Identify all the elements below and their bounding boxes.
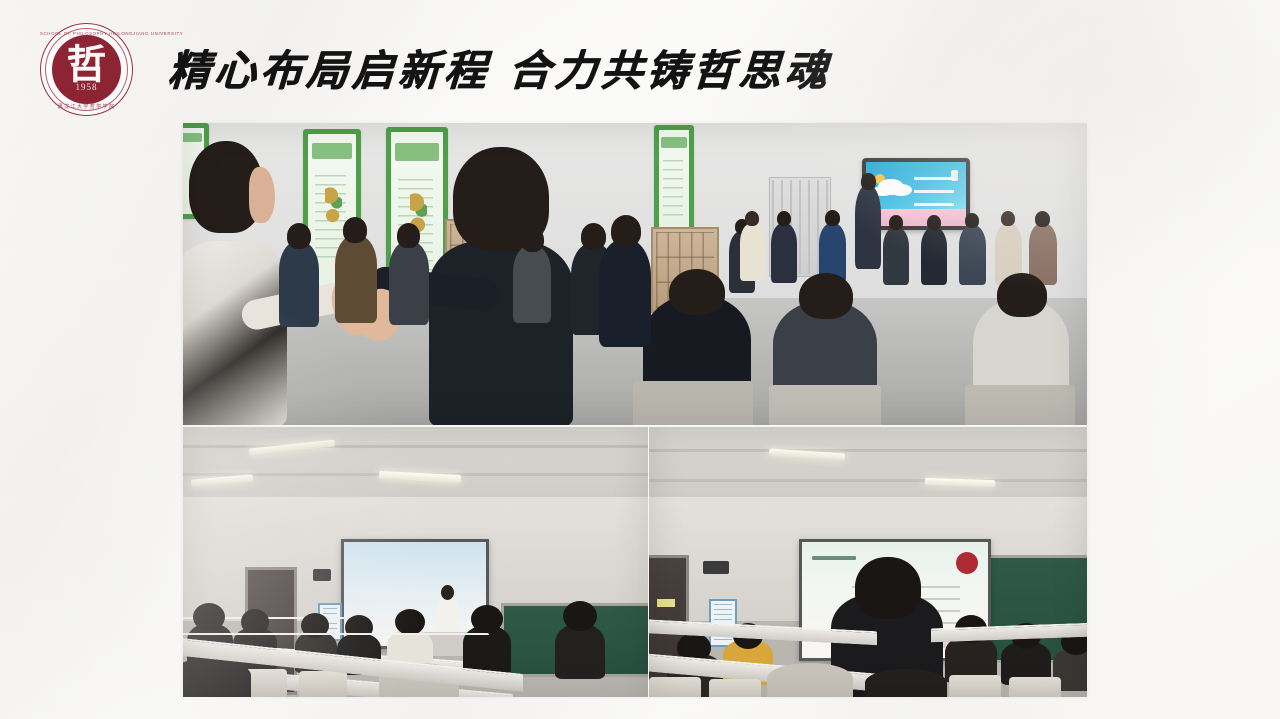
chair	[769, 385, 881, 425]
seated-person-head-icon	[745, 211, 759, 226]
circle-participant	[389, 241, 429, 325]
circle-participant-head-icon	[611, 215, 641, 247]
seal-chinese-arc-text: 黑龙江大学哲学学院	[40, 103, 133, 110]
foreground-student-light-jacket	[183, 241, 287, 425]
slide-title-line	[812, 556, 856, 560]
seated-person	[740, 223, 765, 281]
ceiling-beam	[649, 449, 1087, 452]
foreground-attendee-head-icon	[997, 273, 1047, 317]
foreground-student-face	[249, 167, 275, 223]
circle-participant	[335, 235, 377, 323]
seated-person-head-icon	[1035, 211, 1050, 227]
circle-participant	[279, 241, 319, 327]
circle-participant	[513, 245, 551, 323]
slide-title: 精心布局启新程 合力共铸哲思魂	[167, 44, 832, 98]
lecture-seat	[299, 671, 347, 697]
lecturer-head-icon	[441, 585, 454, 600]
ceiling-beam	[649, 479, 1087, 482]
chair	[633, 381, 753, 425]
seated-student-head-icon	[395, 609, 425, 635]
door-sign	[657, 599, 675, 607]
chair	[965, 385, 1075, 425]
presenter-head-icon	[861, 173, 876, 190]
seated-person-head-icon	[1001, 211, 1015, 226]
seal-disc: 哲 1958	[52, 35, 121, 104]
circle-participant-head-icon	[581, 223, 606, 250]
ceiling	[183, 427, 648, 508]
seated-person-head-icon	[777, 211, 791, 226]
seated-student	[555, 623, 605, 679]
seated-student-head-icon	[345, 615, 373, 640]
center-student-dark-jacket	[429, 241, 573, 425]
seated-student-head-icon	[471, 605, 503, 633]
seated-person	[921, 227, 947, 285]
seated-person	[883, 227, 909, 285]
seated-person-head-icon	[927, 215, 941, 230]
seated-person-head-icon	[889, 215, 903, 230]
lecture-hall-scene-left	[183, 427, 648, 697]
activity-scene	[183, 123, 1087, 425]
lecture-seat	[709, 679, 761, 697]
ceiling	[649, 427, 1087, 508]
foreground-student	[767, 663, 853, 697]
seated-student-head-icon	[193, 603, 225, 631]
wall-speaker	[703, 561, 729, 574]
lecture-seat	[1009, 677, 1061, 697]
photo-collage	[183, 123, 1086, 695]
photo-lecture-hall-right	[649, 427, 1087, 697]
circle-participant-head-icon	[521, 227, 544, 252]
university-seal-logo: SCHOOL OF PHILOSOPHY HEILONGJIANG UNIVER…	[40, 23, 133, 116]
standing-student-head-icon	[855, 557, 921, 619]
lecture-hall-scene-right	[649, 427, 1087, 697]
seated-person-head-icon	[825, 210, 840, 226]
seated-person	[771, 223, 797, 283]
slide-emblem-icon	[956, 552, 978, 574]
foreground-attendee-head-icon	[799, 273, 853, 319]
seal-year-label: 1958	[52, 82, 121, 92]
lecture-desk	[183, 633, 489, 635]
circle-participant-head-icon	[343, 217, 367, 243]
seated-person	[959, 225, 986, 285]
foreground-student	[183, 659, 251, 697]
seated-student-head-icon	[563, 601, 597, 631]
lecturer	[436, 597, 458, 635]
wall-speaker	[313, 569, 331, 581]
circle-participant-head-icon	[397, 223, 420, 248]
presentation-slide: SCHOOL OF PHILOSOPHY HEILONGJIANG UNIVER…	[0, 0, 1280, 719]
seated-person-head-icon	[965, 213, 979, 228]
lecture-seat	[649, 677, 701, 697]
presenter	[855, 185, 881, 269]
lecture-seat	[949, 675, 1001, 697]
circle-participant-head-icon	[287, 223, 311, 249]
foreground-attendee-head-icon	[669, 269, 725, 315]
foreground-student	[865, 669, 947, 697]
seated-student-head-icon	[241, 609, 269, 635]
photo-group-activity	[183, 123, 1087, 425]
seal-character-icon: 哲	[52, 44, 121, 86]
circle-participant	[599, 239, 651, 347]
photo-lecture-hall-left	[183, 427, 648, 697]
